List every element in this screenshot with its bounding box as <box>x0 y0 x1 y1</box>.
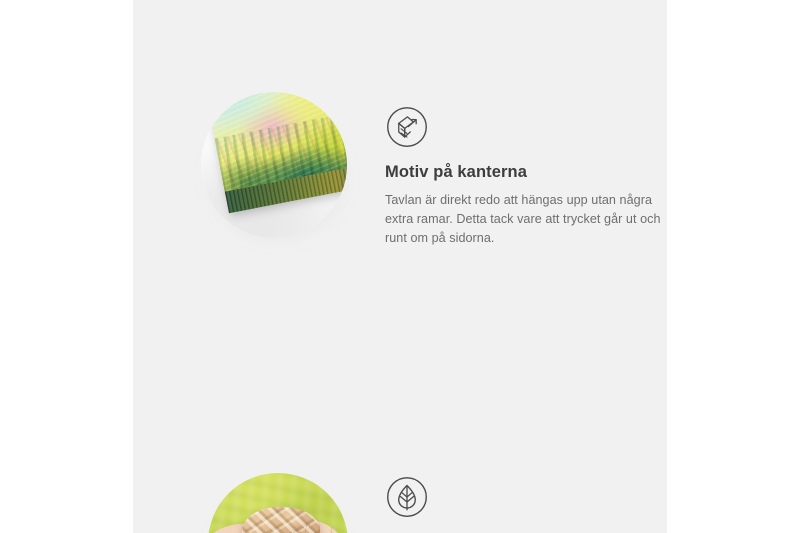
wrapped-canvas-edge-icon <box>385 105 429 149</box>
content-panel: Motiv på kanterna Tavlan är direkt redo … <box>133 0 667 533</box>
feature-title: Motiv på kanterna <box>385 163 667 183</box>
eco-wood-chips-photo[interactable] <box>208 473 348 533</box>
feature-block-ekologisk-produkt: Ekologisk produkt Vi använder endast mat… <box>133 190 667 450</box>
eco-photo-backdrop <box>208 473 348 533</box>
feature-text-ekologisk-produkt: Ekologisk produkt Vi använder endast mat… <box>385 475 667 533</box>
leaf-icon <box>385 475 429 519</box>
product-feature-page: Motiv på kanterna Tavlan är direkt redo … <box>0 0 800 533</box>
